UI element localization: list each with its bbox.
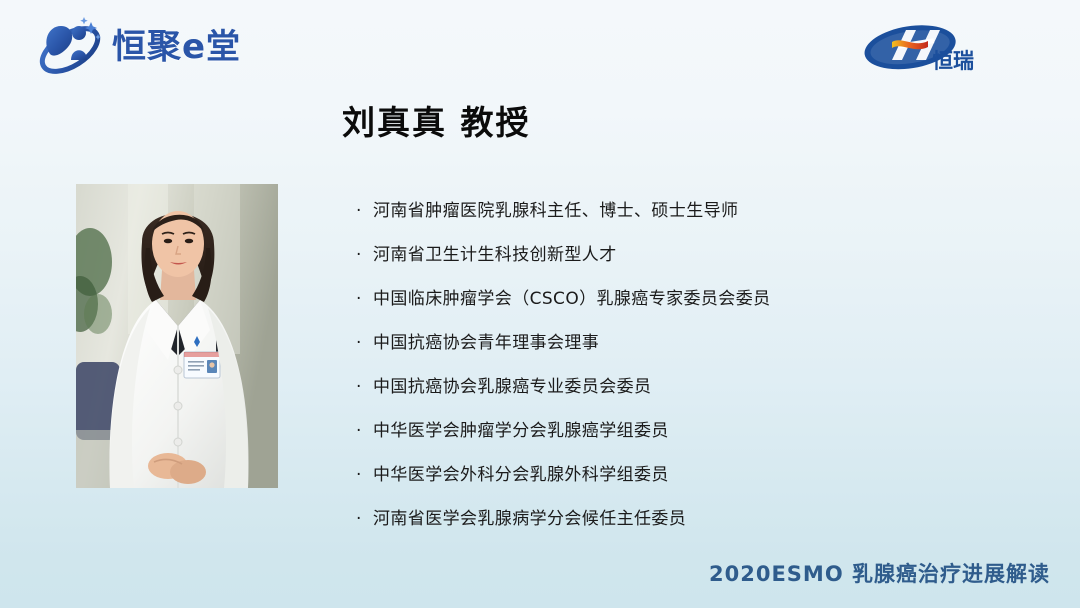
list-item-label: 中国抗癌协会乳腺癌专业委员会委员 [373, 372, 1016, 402]
bullet-icon: · [356, 240, 373, 270]
list-item: · 河南省医学会乳腺病学分会候任主任委员 [356, 504, 1016, 548]
list-item-label: 河南省肿瘤医院乳腺科主任、博士、硕士生导师 [373, 196, 1016, 226]
speaker-portrait-photo [76, 184, 278, 488]
bullet-icon: · [356, 504, 373, 534]
list-item: · 河南省卫生计生科技创新型人才 [356, 240, 1016, 284]
bullet-icon: · [356, 460, 373, 490]
list-item-label: 河南省卫生计生科技创新型人才 [373, 240, 1016, 270]
list-item-label: 中华医学会外科分会乳腺外科学组委员 [373, 460, 1016, 490]
brand-logo-left-text: 恒聚e堂 [112, 30, 241, 64]
brand-logo-left: 恒聚e堂 [34, 14, 241, 80]
list-item: · 中华医学会肿瘤学分会乳腺癌学组委员 [356, 416, 1016, 460]
bullet-icon: · [356, 416, 373, 446]
svg-text:恒瑞: 恒瑞 [932, 49, 974, 73]
list-item: · 河南省肿瘤医院乳腺科主任、博士、硕士生导师 [356, 196, 1016, 240]
slide-canvas: 恒聚e堂 恒瑞 刘真真 [0, 0, 1080, 608]
list-item: · 中国抗癌协会乳腺癌专业委员会委员 [356, 372, 1016, 416]
bullet-icon: · [356, 284, 373, 314]
bullet-icon: · [356, 196, 373, 226]
list-item: · 中华医学会外科分会乳腺外科学组委员 [356, 460, 1016, 504]
swirl-person-sparkle-icon [34, 14, 106, 80]
page-title: 刘真真 教授 [342, 96, 531, 144]
list-item-label: 中国抗癌协会青年理事会理事 [373, 328, 1016, 358]
footer-title: 2020ESMO 乳腺癌治疗进展解读 [709, 558, 1050, 588]
credentials-list: · 河南省肿瘤医院乳腺科主任、博士、硕士生导师 · 河南省卫生计生科技创新型人才… [356, 196, 1016, 548]
bullet-icon: · [356, 372, 373, 402]
brand-logo-right: 恒瑞 [858, 20, 988, 78]
list-item-label: 中国临床肿瘤学会（CSCO）乳腺癌专家委员会委员 [373, 284, 1016, 314]
list-item: · 中国临床肿瘤学会（CSCO）乳腺癌专家委员会委员 [356, 284, 1016, 328]
bullet-icon: · [356, 328, 373, 358]
hengrui-oval-logo-icon: 恒瑞 [858, 20, 988, 78]
list-item-label: 中华医学会肿瘤学分会乳腺癌学组委员 [373, 416, 1016, 446]
list-item: · 中国抗癌协会青年理事会理事 [356, 328, 1016, 372]
list-item-label: 河南省医学会乳腺病学分会候任主任委员 [373, 504, 1016, 534]
